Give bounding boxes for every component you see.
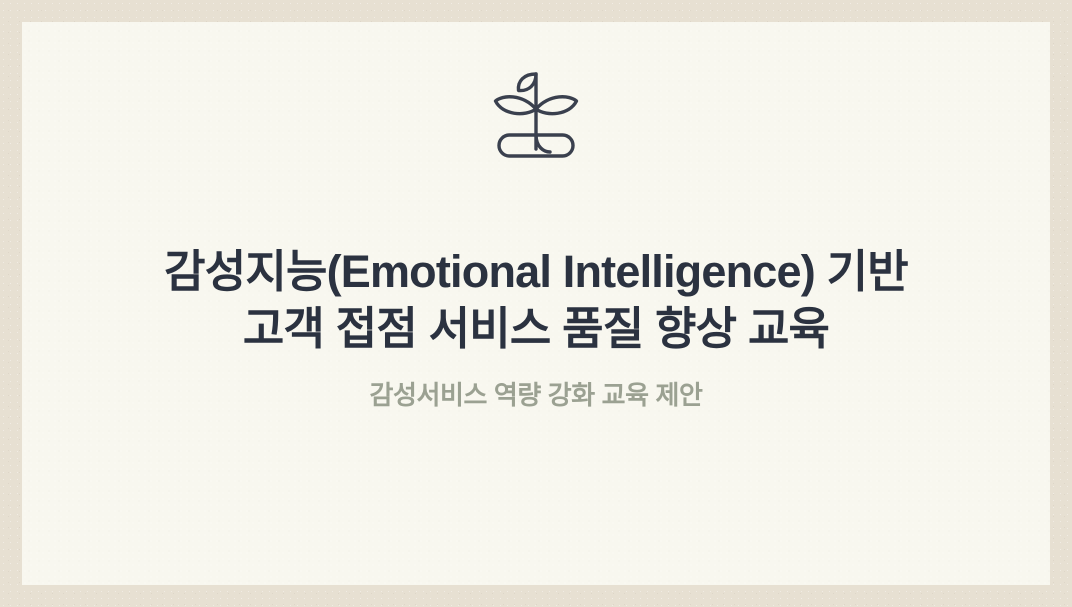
sprout-icon: [484, 57, 588, 161]
title-line-1: 감성지능(Emotional Intelligence) 기반: [164, 246, 908, 297]
title-text-block: 감성지능(Emotional Intelligence) 기반 고객 접점 서비…: [22, 244, 1050, 413]
title-slide: 감성지능(Emotional Intelligence) 기반 고객 접점 서비…: [0, 0, 1072, 607]
title-line-2: 고객 접점 서비스 품질 향상 교육: [62, 301, 1010, 358]
slide-inner-panel: 감성지능(Emotional Intelligence) 기반 고객 접점 서비…: [22, 22, 1050, 585]
page-title: 감성지능(Emotional Intelligence) 기반 고객 접점 서비…: [62, 244, 1010, 357]
page-subtitle: 감성서비스 역량 강화 교육 제안: [62, 379, 1010, 413]
